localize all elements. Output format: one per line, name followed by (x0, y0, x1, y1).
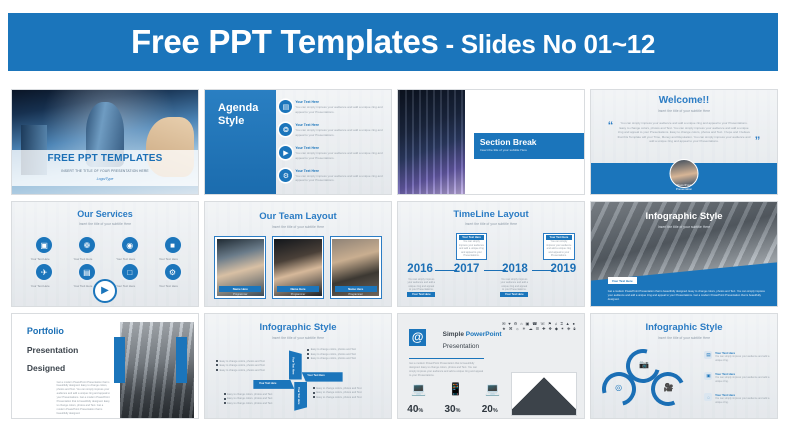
slide-8-subtitle: Insert the title of your subtitle Here (591, 225, 777, 229)
slide-12-subtitle: Insert the title of your subtitle Here (591, 336, 777, 340)
slide-1-subtitle: INSERT THE TITLE OF YOUR PRESENTATION HE… (12, 169, 198, 173)
quote-close-icon: ” (755, 136, 761, 147)
slide-9-title-line2: Presentation (27, 345, 79, 355)
bullet-text: Easy to change colors, photos and Text (220, 364, 265, 367)
info-item-3-body: You can simply impress your audience and… (715, 397, 771, 404)
agenda-item-4-heading: Your Text Here (295, 169, 385, 173)
agenda-item-1-body: You can simply impress your audience and… (295, 105, 385, 114)
timeline-box-top-1: Your Text Here You can simply impress yo… (456, 233, 488, 260)
slide-thumbnail-2[interactable]: Agenda Style ▤ Your Text Here You can si… (204, 89, 392, 195)
bullet-text: Easy to change colors, photos and Text (311, 348, 356, 351)
bullet-text: Easy to change colors, photos and Text (227, 397, 272, 400)
slide-9-body: Get a modern PowerPoint Presentation tha… (57, 381, 113, 416)
pinwheel-label-1: Your Text Here (291, 357, 294, 374)
bullet-text: Easy to change colors, photos and Text (316, 387, 361, 390)
slide-4-quote: You can simply impress your audience and… (617, 121, 751, 144)
slide-6-subtitle: Insert the title of your subtitle Here (205, 225, 391, 229)
document-icon: ▤ (279, 100, 292, 113)
caption-line2: Presentation (591, 188, 777, 192)
timeline-box-top-2: Your Text Here You can simply impress yo… (543, 233, 575, 260)
stat-value-3: 20% (482, 404, 498, 415)
timeline-box-top-2-body: You can simply impress your audience and… (546, 240, 572, 258)
slide-7-subtitle: Insert the title of your subtitle Here (398, 222, 584, 226)
timeline-year-2018: 2018 (502, 263, 528, 275)
slide-9-title-line1: Portfolio (27, 326, 64, 336)
stat-unit-3: % (493, 408, 498, 414)
slide-7-title: TimeLine Layout (398, 209, 584, 220)
header-banner: Free PPT Templates - Slides No 01~12 (8, 13, 778, 71)
slide-8-title: Infographic Style (591, 211, 777, 222)
slide-11-title-line1: Simple PowerPoint (443, 331, 502, 338)
stat-value-2: 30% (445, 404, 461, 415)
accent-bar-2 (176, 337, 187, 383)
slide-1-title: FREE PPT TEMPLATES (12, 153, 198, 164)
bullet-text: Easy to change colors, photos and Text (220, 360, 265, 363)
play-icon: ▶ (279, 146, 292, 159)
stat-number-3: 20 (482, 404, 493, 415)
bullet-text: Easy to change colors, photos and Text (227, 393, 272, 396)
slide-2-title: Agenda Style (218, 102, 258, 127)
banner-title-separator: - (439, 29, 461, 59)
agenda-item-2-heading: Your Text Here (295, 123, 385, 127)
slide-4-subtitle: Insert the title of your subtitle Here (591, 109, 777, 113)
slide-10-title: Infographic Style (205, 322, 391, 333)
bullet-text: Easy to change colors, photos and Text (316, 396, 361, 399)
slide-thumbnail-11[interactable]: @ Simple PowerPoint Presentation Get a m… (397, 313, 585, 419)
timeline-year-2017: 2017 (454, 263, 480, 275)
globe-icon: ◌ (704, 393, 712, 401)
city-night-photo (398, 90, 465, 194)
timeline-box-bottom-1: You can simply impress your audience and… (405, 277, 437, 304)
camera-icon: 📷 (639, 360, 649, 369)
bullet-text: Easy to change colors, photos and Text (316, 391, 361, 394)
slide-8-body: Get a modern PowerPoint Presentation tha… (608, 290, 766, 302)
info-list-item-1[interactable]: ▤ Your Text Here You can simply impress … (704, 351, 771, 362)
video-icon[interactable]: ■ (165, 237, 181, 253)
pinwheel-bullets-bottomleft: Easy to change colors, photos and Text E… (224, 393, 295, 406)
pinwheel-bullets-topright: Easy to change colors, photos and Text E… (307, 348, 378, 361)
service-caption-2: Your Text Here (66, 257, 100, 261)
slide-thumbnail-4[interactable]: Welcome!! Insert the title of your subti… (590, 89, 778, 195)
timeline-box-bottom-2: You can simply impress your audience and… (498, 277, 530, 304)
monitor-icon: 💻 (411, 382, 426, 396)
service-caption-1: Your Text Here (23, 257, 57, 261)
agenda-item-2-body: You can simply impress your audience and… (295, 128, 385, 137)
divider (409, 358, 483, 359)
agenda-item-3[interactable]: ▶ Your Text Here You can simply impress … (279, 146, 385, 160)
slide-3-subtitle: Insert the title of your subtitle Here (480, 148, 527, 152)
pinwheel-label-3: Your Text Here (297, 387, 300, 404)
slide-thumbnail-10[interactable]: Infographic Style Insert the title of yo… (204, 313, 392, 419)
video-camera-icon: 🎥 (664, 383, 674, 392)
slide-thumbnail-grid: FREE PPT TEMPLATES INSERT THE TITLE OF Y… (11, 89, 775, 427)
gear-icon[interactable]: ⚙ (165, 264, 181, 280)
title-plain: Simple (443, 331, 466, 338)
agenda-item-2[interactable]: ❂ Your Text Here You can simply impress … (279, 123, 385, 137)
service-caption-5: Your Text Here (23, 284, 57, 288)
team-role-2: Programmer (277, 293, 319, 296)
timeline-box-bottom-1-body: You can simply impress your audience and… (407, 278, 435, 292)
bullet-text: Easy to change colors, photos and Text (311, 357, 356, 360)
slide-thumbnail-1[interactable]: FREE PPT TEMPLATES INSERT THE TITLE OF Y… (11, 89, 199, 195)
page-title: Free PPT Templates - Slides No 01~12 (131, 23, 655, 61)
stat-value-1: 40% (407, 404, 423, 415)
slide-10-subtitle: Insert the title of your subtitle Here (205, 336, 391, 340)
agenda-item-4-body: You can simply impress your audience and… (295, 174, 385, 183)
agenda-item-3-body: You can simply impress your audience and… (295, 151, 385, 160)
agenda-title-line2: Style (218, 115, 258, 127)
bullet-text: Easy to change colors, photos and Text (227, 402, 272, 405)
stat-unit-1: % (418, 408, 423, 414)
at-sign-icon: @ (409, 329, 426, 346)
timeline-year-2019: 2019 (551, 263, 577, 275)
accent-bar-1 (114, 337, 125, 383)
slide-4-caption: PowerPoint Presentation (591, 184, 777, 192)
pinwheel-bullets-topleft: Easy to change colors, photos and Text E… (216, 360, 281, 373)
bullet-text: Easy to change colors, photos and Text (220, 369, 265, 372)
team-card-3[interactable]: Name Here Programmer (330, 236, 382, 298)
slide-8-button[interactable]: Your Text Here (608, 277, 637, 284)
slide-3-title: Section Break (480, 137, 537, 147)
slide-9-title-line3: Designed (27, 363, 65, 373)
ppt-template-preview-sheet: Free PPT Templates - Slides No 01~12 FRE… (0, 0, 786, 445)
slide-5-subtitle: Insert the title of your subtitle Here (12, 222, 198, 226)
agenda-title-line1: Agenda (218, 102, 258, 114)
compass-icon: ❂ (279, 123, 292, 136)
smartphone-icon: 📱 (448, 382, 463, 396)
slide-11-title-line2: Presentation (443, 343, 480, 350)
stat-unit-2: % (456, 408, 461, 414)
play-circle-icon[interactable]: ▶ (93, 279, 117, 303)
slide-12-title: Infographic Style (591, 322, 777, 333)
team-card-1[interactable]: Name Here Programmer (214, 236, 266, 298)
timeline-box-bottom-2-heading: Your Text Here (500, 292, 528, 297)
pinwheel-bullets-bottomright: Easy to change colors, photos and Text E… (313, 387, 384, 400)
service-caption-4: Your Text Here (152, 257, 186, 261)
banner-title-part1: Free PPT Templates (131, 23, 439, 60)
target-icon: ◎ (615, 383, 622, 392)
agenda-item-4[interactable]: ⚙ Your Text Here You can simply impress … (279, 169, 385, 183)
timeline-year-2016: 2016 (407, 263, 433, 275)
banner-title-part2: Slides No 01~12 (461, 29, 655, 59)
quote-open-icon: “ (608, 121, 614, 132)
pinwheel-label-4: Your Text Here (259, 382, 276, 385)
target-icon[interactable]: ◉ (122, 237, 138, 253)
service-caption-3: Your Text Here (109, 257, 143, 261)
slide-6-title: Our Team Layout (205, 211, 391, 222)
agenda-item-1[interactable]: ▤ Your Text Here You can simply impress … (279, 100, 385, 114)
info-list-item-2[interactable]: ▣ Your Text Here You can simply impress … (704, 372, 771, 383)
gear-icon: ⚙ (279, 169, 292, 182)
slide-thumbnail-7[interactable]: TimeLine Layout Insert the title of your… (397, 201, 585, 307)
icon-cloud: ✉ ♥ ⚙ ⌂ ▣ ☎ ☏ ⚑ ♫ ⌗ ▲ ● ★ ⌘ ☼ ☀ ☁ ☰ ✚ ❖ … (502, 322, 580, 355)
team-name-3: Name Here (335, 286, 377, 292)
agenda-item-1-heading: Your Text Here (295, 100, 385, 104)
camera-icon: ▣ (704, 372, 712, 380)
slide-thumbnail-9[interactable]: Portfolio Presentation Designed Get a mo… (11, 313, 199, 419)
info-item-1-body: You can simply impress your audience and… (715, 355, 771, 362)
slide-thumbnail-8[interactable]: Infographic Style Insert the title of yo… (590, 201, 778, 307)
stat-number-2: 30 (445, 404, 456, 415)
team-name-2: Name Here (277, 286, 319, 292)
team-role-1: Programmer (219, 293, 261, 296)
slide-11-body: Get a modern PowerPoint Presentation tha… (409, 362, 483, 378)
team-card-2[interactable]: Name Here Programmer (272, 236, 324, 298)
slide-thumbnail-5[interactable]: Our Services Insert the title of your su… (11, 201, 199, 307)
info-item-2-body: You can simply impress your audience and… (715, 376, 771, 383)
slide-thumbnail-3[interactable]: Section Break Insert the title of your s… (397, 89, 585, 195)
briefcase-icon: ▤ (704, 351, 712, 359)
title-accent: PowerPoint (466, 331, 502, 338)
team-role-3: Programmer (335, 293, 377, 296)
timeline-box-bottom-2-body: You can simply impress your audience and… (500, 278, 528, 292)
slide-thumbnail-12[interactable]: Infographic Style Insert the title of yo… (590, 313, 778, 419)
slide-4-title: Welcome!! (591, 95, 777, 106)
service-caption-8: Your Text Here (152, 284, 186, 288)
bullet-text: Easy to change colors, photos and Text (311, 353, 356, 356)
slide-thumbnail-6[interactable]: Our Team Layout Insert the title of your… (204, 201, 392, 307)
envelope-chart-icon (511, 372, 576, 416)
slide-1-logo: Logo/Type (12, 177, 198, 181)
timeline-box-top-1-body: You can simply impress your audience and… (459, 240, 485, 258)
info-list-item-3[interactable]: ◌ Your Text Here You can simply impress … (704, 393, 771, 404)
pinwheel-label-2: Your Text Here (307, 374, 324, 377)
stat-number-1: 40 (407, 404, 418, 415)
team-name-1: Name Here (219, 286, 261, 292)
slide-5-title: Our Services (12, 209, 198, 219)
timeline-box-bottom-1-heading: Your Text Here (407, 292, 435, 297)
laptop-icon: 💻 (485, 382, 500, 396)
agenda-item-3-heading: Your Text Here (295, 146, 385, 150)
